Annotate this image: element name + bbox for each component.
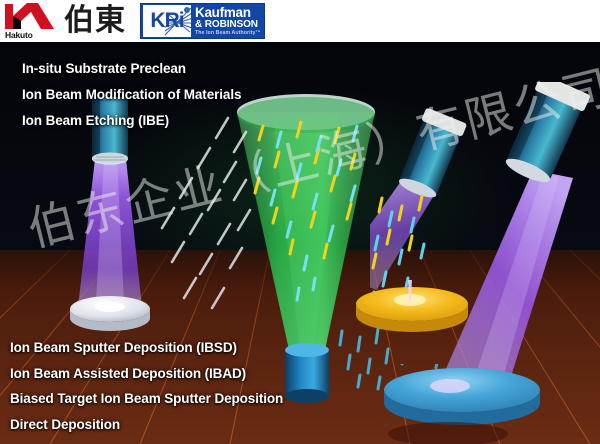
- kaufman-robinson-logo: KRi Kaufman & ROBINSON The Ion Beam Auth…: [140, 3, 265, 39]
- kri-tagline: The Ion Beam Authority™: [195, 31, 261, 36]
- top-label-group: In-situ Substrate Preclean Ion Beam Modi…: [22, 56, 241, 134]
- kri-line-kaufman: Kaufman: [195, 6, 261, 20]
- kri-text-block: Kaufman & ROBINSON The Ion Beam Authorit…: [195, 6, 261, 36]
- brand-header: Hakuto 伯東 KRi Kaufman & ROBINSON The Ion: [0, 0, 600, 42]
- kri-badge-text: KRi: [150, 9, 183, 33]
- bottom-label-group: Ion Beam Sputter Deposition (IBSD) Ion B…: [10, 335, 283, 437]
- bottom-label-3: Direct Deposition: [10, 412, 283, 438]
- ion-beam-process-diagram: Hakuto 伯東 KRi Kaufman & ROBINSON The Ion: [0, 0, 600, 444]
- top-label-0: In-situ Substrate Preclean: [22, 56, 241, 82]
- hakuto-logo: Hakuto: [2, 1, 58, 41]
- hakuto-red-peak-icon: [4, 3, 54, 29]
- sputtered-particles-left: [150, 102, 260, 322]
- hakuto-cjk-name: 伯東: [64, 6, 126, 36]
- hakuto-wordmark: Hakuto: [5, 30, 33, 40]
- process-scene: 伯东企业（上海）有限公司 In-situ Substrate Preclean …: [0, 42, 600, 444]
- sputtered-particles-bottom-right: [330, 327, 420, 397]
- top-label-2: Ion Beam Etching (IBE): [22, 108, 241, 134]
- kri-line-robinson: & ROBINSON: [195, 20, 261, 30]
- bottom-label-1: Ion Beam Assisted Deposition (IBAD): [10, 361, 283, 387]
- bottom-label-0: Ion Beam Sputter Deposition (IBSD): [10, 335, 283, 361]
- kri-badge: KRi: [143, 5, 191, 37]
- top-label-1: Ion Beam Modification of Materials: [22, 82, 241, 108]
- bottom-label-2: Biased Target Ion Beam Sputter Depositio…: [10, 386, 283, 412]
